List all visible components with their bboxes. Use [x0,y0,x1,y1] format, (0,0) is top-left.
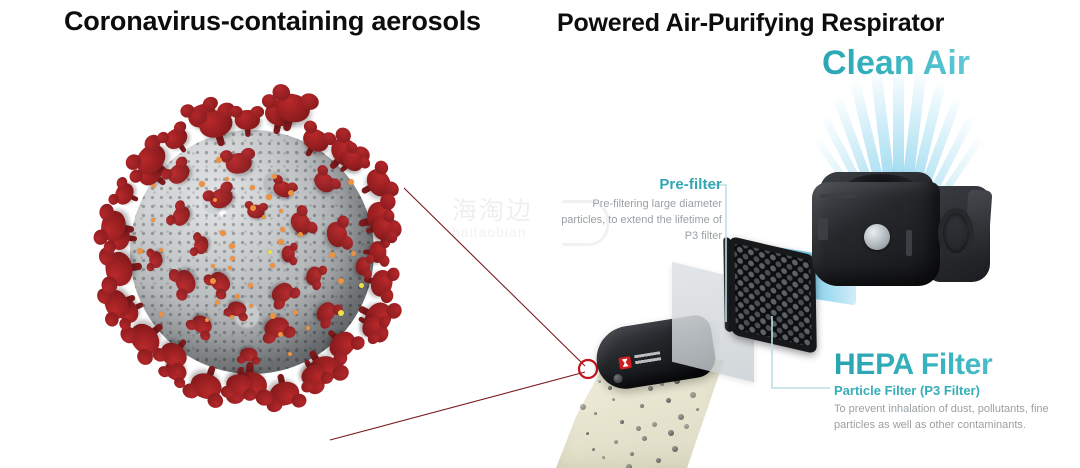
virus-membrane-dot [270,313,276,319]
virus-spike [319,221,346,251]
page-title-right: Powered Air-Purifying Respirator [557,9,944,38]
device-vent-slot [906,230,912,256]
mask-vent-icon [613,373,623,383]
device-vent-slot [820,194,856,198]
brand-logo-text [634,351,661,366]
aerosol-particle [648,386,653,391]
infographic-canvas: Coronavirus-containing aerosols Powered … [0,0,1080,468]
virus-spike [278,246,292,263]
aerosol-particle [612,398,615,401]
page-title-left: Coronavirus-containing aerosols [64,6,481,37]
virus-spike [363,214,390,242]
aerosol-particle [580,404,586,410]
virus-spike [226,366,254,393]
virus-spike [151,250,166,268]
aerosol-particle [630,452,634,456]
aerosol-particle [602,456,605,459]
callout-hepa: HEPA Filter Particle Filter (P3 Filter) … [834,348,1074,433]
virus-spike [225,155,254,181]
callout-hepa-title: HEPA Filter [834,348,1074,382]
aerosol-particle [636,426,641,431]
virus-membrane-dot [268,250,272,254]
aerosol-particle [690,392,696,398]
device-control-knob [864,224,890,250]
virus-membrane-dot [279,209,283,213]
brand-logo-icon [618,356,632,370]
aerosol-particle [608,386,612,390]
virus-membrane-dot [262,215,266,219]
virus-spike [351,256,369,276]
virus-membrane-dot [225,177,229,181]
aerosol-particle [696,408,699,411]
aerosol-particle [672,446,678,452]
virus-membrane-dot [199,181,205,187]
aerosol-particle [678,414,684,420]
aerosol-particle [594,412,597,415]
callout-hepa-subtitle: Particle Filter (P3 Filter) [834,383,1074,398]
aerosol-particle [592,448,595,451]
aerosol-particle [598,380,601,383]
hepa-filter-icon [729,236,817,354]
callout-prefilter: Pre-filter Pre-filtering large diameter … [558,176,722,244]
aerosol-particle [586,432,589,435]
virus-spike [240,343,258,358]
aerosol-particle [668,430,674,436]
virus-membrane-dot [288,352,292,356]
device-vent-slot [818,218,828,240]
callout-prefilter-title: Pre-filter [558,176,722,193]
aerosol-particle [640,404,644,408]
coronavirus-icon [52,52,452,452]
aerosol-particle [684,424,689,429]
virus-membrane-dot [250,185,255,190]
hepa-filter-frame [729,236,817,354]
callout-hepa-description: To prevent inhalation of dust, pollutant… [834,401,1074,433]
aerosol-particle [652,422,657,427]
papr-device-icon [806,168,992,304]
aerosol-particle [666,398,671,403]
virus-membrane-dot [228,266,232,270]
virus-membrane-dot [216,157,222,163]
virus-membrane-dot [348,179,354,185]
aerosol-particle [656,458,661,463]
virus-membrane-dot [151,218,155,222]
aerosol-particle [626,464,632,468]
aerosol-particle [642,436,647,441]
virus-membrane-dot [338,310,344,316]
device-hose-port [938,208,974,258]
hepa-honeycomb-mesh [734,243,811,347]
virus-membrane-dot [159,248,163,252]
virus-membrane-dot [298,232,303,237]
virus-membrane-dot [351,251,356,256]
virus-spike [109,249,145,287]
virus-membrane-dot [293,310,298,315]
virus-membrane-dot [270,263,275,268]
virus-membrane-dot [229,243,235,249]
aerosol-particle [620,420,624,424]
virus-spike [103,209,137,245]
virus-spike [234,113,260,137]
aerosol-particle [614,440,618,444]
virus-membrane-dot [250,205,256,211]
virus-membrane-dot [278,239,284,245]
callout-prefilter-description: Pre-filtering large diameter particles, … [558,196,722,244]
